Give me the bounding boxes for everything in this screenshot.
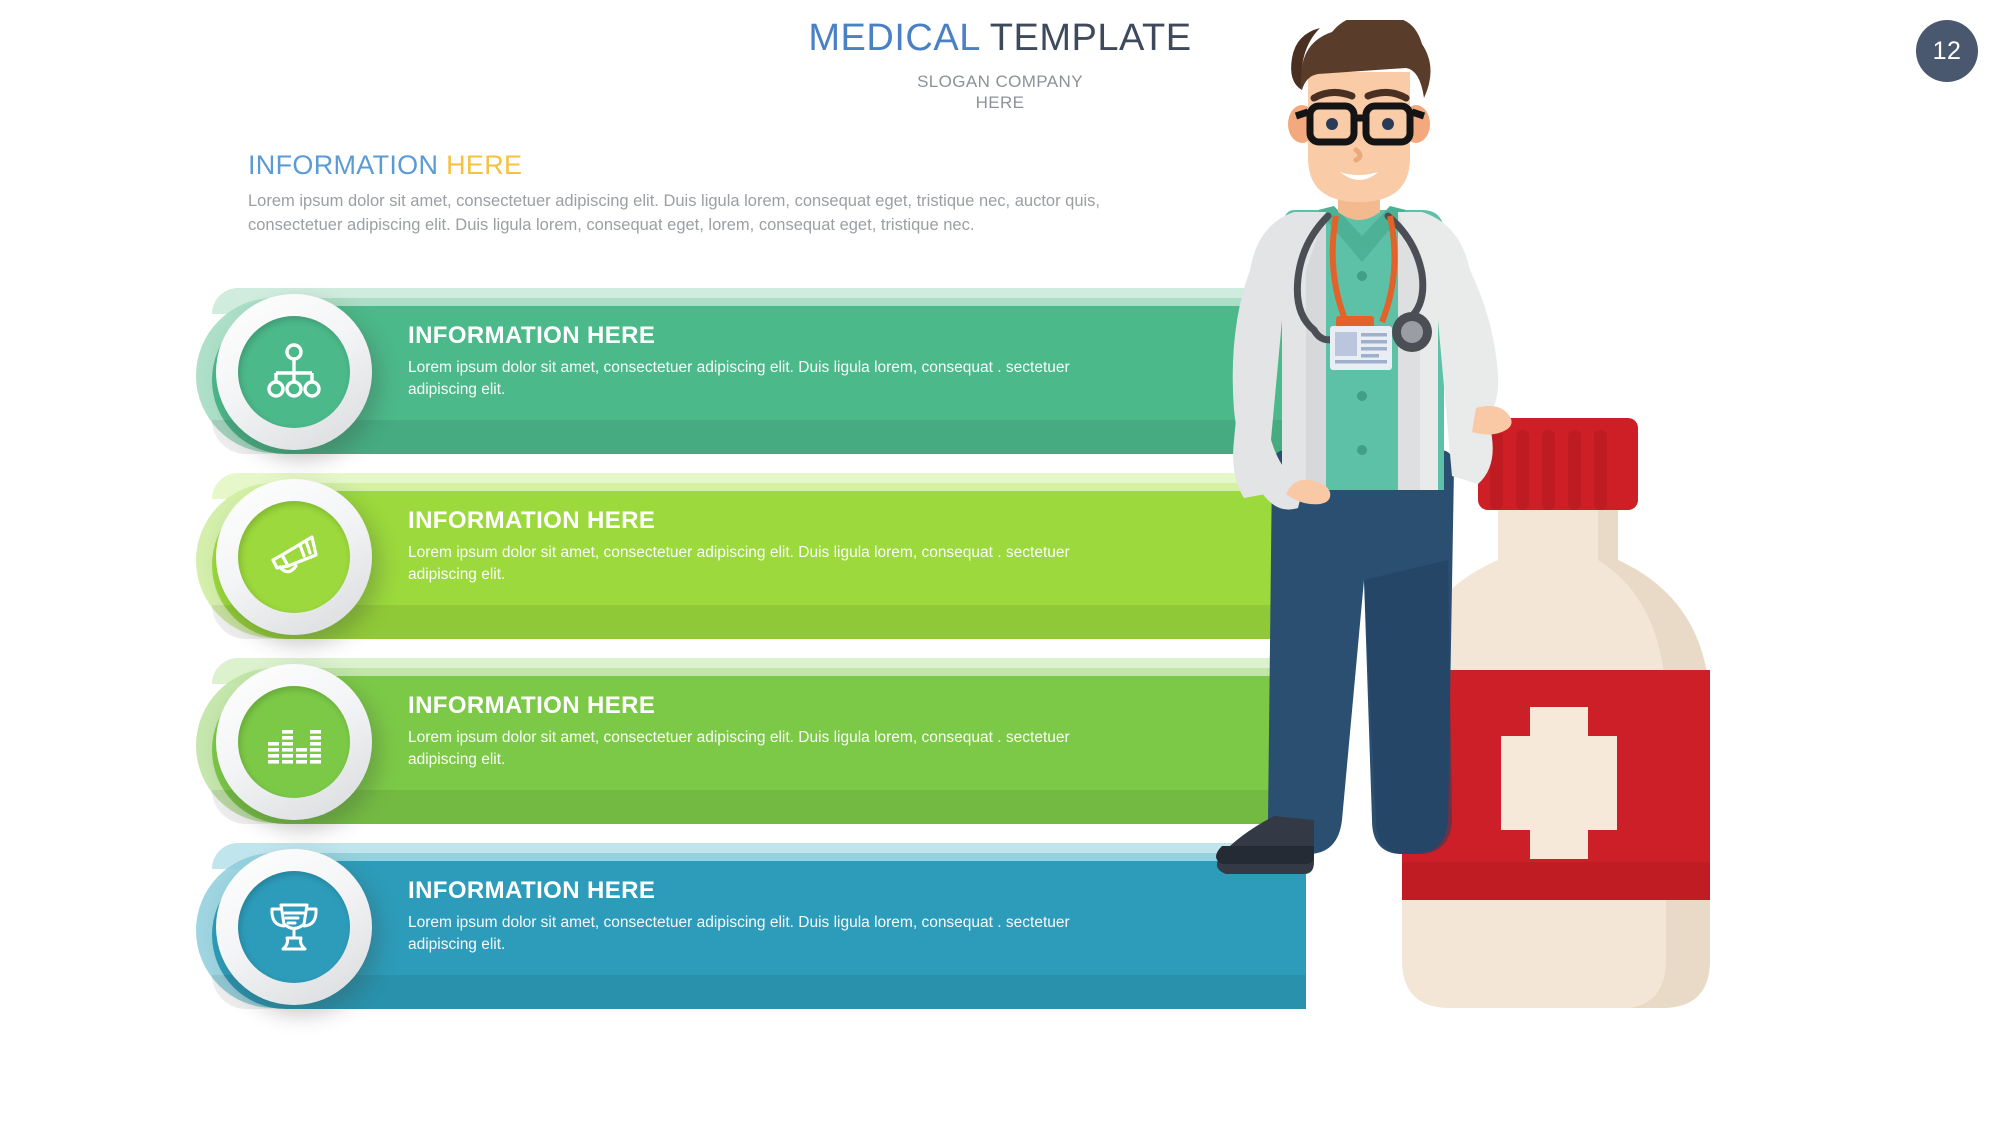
title-primary: MEDICAL <box>808 17 979 59</box>
intro-block: INFORMATION HERE Lorem ipsum dolor sit a… <box>248 150 1178 238</box>
bar-icon-disc[interactable] <box>216 294 372 450</box>
bar-text-block: INFORMATION HERE Lorem ipsum dolor sit a… <box>408 877 1108 956</box>
doctor-eye-left <box>1326 118 1338 130</box>
bar-icon-inner <box>238 501 350 613</box>
doctor-shoe-sole <box>1216 846 1314 864</box>
page-number-value: 12 <box>1933 37 1962 66</box>
bar-description: Lorem ipsum dolor sit amet, consectetuer… <box>408 357 1108 401</box>
slide-canvas: MEDICAL TEMPLATE SLOGAN COMPANY HERE 12 … <box>0 0 2000 1125</box>
bar-description: Lorem ipsum dolor sit amet, consectetuer… <box>408 542 1108 586</box>
bar-description: Lorem ipsum dolor sit amet, consectetuer… <box>408 727 1108 771</box>
equalizer-icon <box>264 714 324 770</box>
bar-description: Lorem ipsum dolor sit amet, consectetuer… <box>408 912 1108 956</box>
bar-title: INFORMATION HERE <box>408 322 1108 350</box>
page-number-badge: 12 <box>1916 20 1978 82</box>
doctor-hand-right <box>1472 406 1512 435</box>
bar-icon-inner <box>238 316 350 428</box>
id-badge-photo <box>1335 332 1357 356</box>
bar-row[interactable]: INFORMATION HERE Lorem ipsum dolor sit a… <box>196 843 1306 1033</box>
bar-icon-inner <box>238 686 350 798</box>
title-secondary: TEMPLATE <box>990 17 1192 59</box>
bar-icon-disc[interactable] <box>216 664 372 820</box>
hierarchy-icon <box>263 341 325 403</box>
bar-text-block: INFORMATION HERE Lorem ipsum dolor sit a… <box>408 507 1108 586</box>
doctor-shoe <box>1217 816 1314 874</box>
doctor-pants-shade <box>1364 560 1452 854</box>
bar-row[interactable]: INFORMATION HERE Lorem ipsum dolor sit a… <box>196 658 1306 848</box>
bar-title: INFORMATION HERE <box>408 877 1108 905</box>
megaphone-icon <box>262 525 326 589</box>
bar-row[interactable]: INFORMATION HERE Lorem ipsum dolor sit a… <box>196 288 1306 478</box>
intro-heading-primary: INFORMATION <box>248 150 438 180</box>
bar-row[interactable]: INFORMATION HERE Lorem ipsum dolor sit a… <box>196 473 1306 663</box>
doctor-character <box>1190 20 1520 1100</box>
bar-title: INFORMATION HERE <box>408 692 1108 720</box>
bar-icon-disc[interactable] <box>216 849 372 1005</box>
bar-title: INFORMATION HERE <box>408 507 1108 535</box>
stethoscope-diaphragm <box>1401 321 1423 343</box>
bar-icon-disc[interactable] <box>216 479 372 635</box>
intro-body-text: Lorem ipsum dolor sit amet, consectetuer… <box>248 190 1178 238</box>
bar-text-block: INFORMATION HERE Lorem ipsum dolor sit a… <box>408 322 1108 401</box>
bar-text-block: INFORMATION HERE Lorem ipsum dolor sit a… <box>408 692 1108 771</box>
intro-heading: INFORMATION HERE <box>248 150 1178 181</box>
doctor-eye-right <box>1382 118 1394 130</box>
trophy-icon <box>265 897 323 957</box>
intro-heading-accent: HERE <box>446 150 522 180</box>
bar-icon-inner <box>238 871 350 983</box>
